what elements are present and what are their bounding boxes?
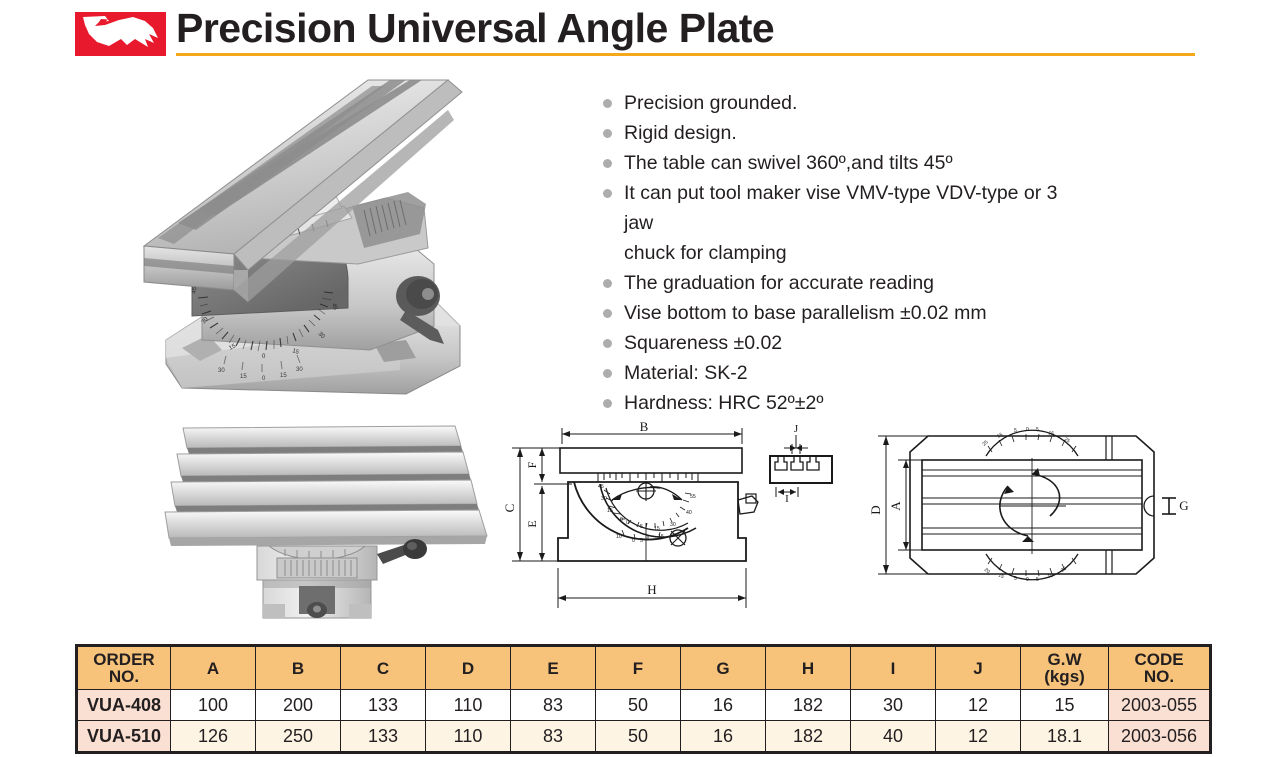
bullet-dot-icon: [603, 309, 612, 318]
svg-text:5: 5: [1036, 577, 1039, 583]
svg-text:C: C: [502, 504, 517, 513]
feature-text: Rigid design.: [624, 122, 737, 144]
feature-text: The table can swivel 360º,and tilts 45º: [624, 152, 953, 174]
feature-text: Squareness ±0.02: [624, 332, 782, 354]
features-list: Precision grounded. Rigid design. The ta…: [600, 88, 1070, 418]
table-row[interactable]: VUA-408 100 200 133 110 83 50 16 182 30 …: [77, 690, 1211, 721]
col-header-j: J: [936, 646, 1021, 690]
feature-text: It can put tool maker vise VMV-type VDV-…: [624, 182, 1058, 234]
t-slot-detail-drawing: J I: [770, 423, 832, 505]
bullet-dot-icon: [603, 129, 612, 138]
svg-text:D: D: [868, 505, 883, 514]
cell-c: 133: [341, 721, 426, 753]
col-header-g: G: [681, 646, 766, 690]
col-header-d: D: [426, 646, 511, 690]
col-header-f: F: [596, 646, 681, 690]
eagle-head-logo: [75, 12, 166, 56]
svg-text:15: 15: [607, 508, 613, 514]
bullet-dot-icon: [603, 159, 612, 168]
svg-text:F: F: [525, 461, 539, 468]
svg-text:0: 0: [626, 520, 629, 526]
cell-g: 16: [681, 690, 766, 721]
eagle-head-icon: [75, 12, 166, 56]
svg-text:5: 5: [640, 524, 643, 530]
feature-item: Material: SK-2: [600, 358, 1070, 388]
feature-text: Vise bottom to base parallelism ±0.02 mm: [624, 302, 987, 324]
feature-item: The table can swivel 360º,and tilts 45º: [600, 148, 1070, 178]
cell-g: 16: [681, 721, 766, 753]
col-header-gross-weight: G.W(kgs): [1021, 646, 1109, 690]
technical-drawings: B: [500, 418, 1200, 623]
cell-a: 126: [171, 721, 256, 753]
svg-text:0: 0: [632, 538, 635, 544]
svg-text:5: 5: [1014, 576, 1017, 582]
feature-text-line2: chuck for clamping: [624, 238, 1070, 268]
svg-text:B: B: [640, 419, 649, 434]
bullet-dot-icon: [603, 399, 612, 408]
cell-i: 40: [851, 721, 936, 753]
feature-item: It can put tool maker vise VMV-type VDV-…: [600, 178, 1070, 268]
svg-text:45: 45: [598, 484, 604, 490]
svg-text:15: 15: [240, 374, 247, 380]
plan-view-drawing: 25 15 5 0 5 15 25: [868, 427, 1189, 583]
page-title: Precision Universal Angle Plate: [176, 4, 774, 52]
bullet-dot-icon: [603, 189, 612, 198]
feature-item: The graduation for accurate reading: [600, 268, 1070, 298]
title-underline-rule: [176, 53, 1195, 56]
cell-a: 100: [171, 690, 256, 721]
bullet-dot-icon: [603, 99, 612, 108]
feature-item: Hardness: HRC 52º±2º: [600, 388, 1070, 418]
col-header-e: E: [511, 646, 596, 690]
col-header-i: I: [851, 646, 936, 690]
col-header-a: A: [171, 646, 256, 690]
cell-h: 182: [766, 690, 851, 721]
cell-f: 50: [596, 690, 681, 721]
angle-plate-tilted-photo: 45 30 15 0 15 30 45 30 15 0 15 3: [138, 58, 478, 403]
col-header-c: C: [341, 646, 426, 690]
svg-text:15: 15: [654, 526, 660, 532]
cell-j: 12: [936, 721, 1021, 753]
svg-text:I: I: [785, 493, 789, 505]
cell-e: 83: [511, 690, 596, 721]
col-header-b: B: [256, 646, 341, 690]
feature-text: Material: SK-2: [624, 362, 748, 384]
svg-text:15: 15: [997, 572, 1005, 580]
bullet-dot-icon: [603, 369, 612, 378]
col-header-code-no: CODENO.: [1109, 646, 1211, 690]
feature-text: The graduation for accurate reading: [624, 272, 934, 294]
cell-b: 250: [256, 721, 341, 753]
svg-text:J: J: [794, 423, 799, 435]
table-header-row: ORDERNO. A B C D E F G H I J G.W(kgs) CO…: [77, 646, 1211, 690]
cell-d: 110: [426, 721, 511, 753]
cell-j: 12: [936, 690, 1021, 721]
svg-text:0: 0: [620, 517, 623, 523]
cell-i: 30: [851, 690, 936, 721]
cell-code-no: 2003-056: [1109, 721, 1211, 753]
cell-f: 50: [596, 721, 681, 753]
bullet-dot-icon: [603, 339, 612, 348]
cell-h: 182: [766, 721, 851, 753]
svg-text:H: H: [647, 582, 656, 597]
cell-e: 83: [511, 721, 596, 753]
feature-text: Hardness: HRC 52º±2º: [624, 392, 823, 414]
feature-item: Squareness ±0.02: [600, 328, 1070, 358]
specification-table: ORDERNO. A B C D E F G H I J G.W(kgs) CO…: [75, 644, 1199, 754]
svg-text:30: 30: [218, 368, 225, 374]
page-header: Precision Universal Angle Plate: [0, 0, 1269, 62]
cell-order-no: VUA-408: [77, 690, 171, 721]
svg-text:G: G: [1179, 498, 1188, 513]
front-elevation-drawing: B: [502, 419, 758, 608]
cell-order-no: VUA-510: [77, 721, 171, 753]
feature-item: Rigid design.: [600, 118, 1070, 148]
svg-text:10: 10: [616, 534, 622, 540]
svg-text:30: 30: [601, 496, 607, 502]
svg-text:30: 30: [670, 522, 676, 528]
svg-text:15: 15: [658, 534, 664, 540]
cell-gross-weight: 15: [1021, 690, 1109, 721]
table-row[interactable]: VUA-510 126 250 133 110 83 50 16 182 40 …: [77, 721, 1211, 753]
svg-text:A: A: [888, 501, 903, 511]
cell-d: 110: [426, 690, 511, 721]
feature-text: Precision grounded.: [624, 92, 797, 114]
svg-text:E: E: [525, 520, 539, 527]
feature-item: Vise bottom to base parallelism ±0.02 mm: [600, 298, 1070, 328]
svg-text:5: 5: [640, 538, 643, 544]
svg-text:40: 40: [686, 510, 692, 516]
svg-text:55: 55: [690, 494, 696, 500]
bullet-dot-icon: [603, 279, 612, 288]
svg-text:5: 5: [1036, 427, 1039, 433]
svg-text:25: 25: [1063, 437, 1071, 445]
cell-gross-weight: 18.1: [1021, 721, 1109, 753]
svg-text:30: 30: [296, 367, 303, 373]
cell-c: 133: [341, 690, 426, 721]
cell-code-no: 2003-055: [1109, 690, 1211, 721]
angle-plate-front-photo: [145, 418, 495, 623]
feature-item: Precision grounded.: [600, 88, 1070, 118]
svg-text:15: 15: [280, 373, 287, 379]
svg-text:0: 0: [1026, 577, 1029, 583]
col-header-order-no: ORDERNO.: [77, 646, 171, 690]
svg-text:0: 0: [1026, 427, 1029, 433]
svg-text:5: 5: [1014, 428, 1017, 434]
col-header-h: H: [766, 646, 851, 690]
cell-b: 200: [256, 690, 341, 721]
